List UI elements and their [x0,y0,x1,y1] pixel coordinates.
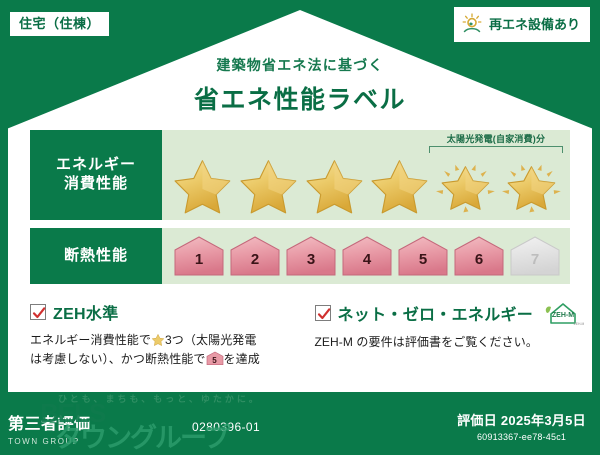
notes-section: ZEH水準 エネルギー消費性能で3つ（太陽光発電 は考慮しない）、かつ断熱性能で… [30,300,575,368]
energy-performance-row: エネルギー 消費性能 太陽光発電(自家消費)分 [30,130,570,220]
insulation-label-text: 断熱性能 [64,247,128,266]
insulation-grade-7-value: 7 [508,251,562,268]
star-5-solar [433,154,498,216]
zeh-note-body: エネルギー消費性能で3つ（太陽光発電 は考慮しない）、かつ断熱性能で5を達成 [30,331,303,368]
renewable-energy-badge: 再エネ設備あり [454,7,590,42]
label-title: 省エネ性能ラベル [0,80,600,116]
label-title-block: 建築物省エネ法に基づく 省エネ性能ラベル [0,55,600,116]
zeh-note-header: ZEH水準 [30,300,303,324]
insulation-grade-6-value: 6 [452,251,506,268]
insulation-grade-1: 1 [172,234,226,278]
star-1 [170,154,235,216]
sun-leaf-icon [460,12,484,36]
zeh-body-star-count: 3つ（太陽光発電 [165,333,256,347]
zeh-body-part3: を達成 [224,352,260,366]
nzeb-checkbox[interactable] [315,305,331,321]
zeh-m-logo-icon: ZEH-M ZEH-M [542,300,584,326]
evaluation-date: 評価日 2025年3月5日 [457,410,586,429]
star-6-solar [499,154,564,216]
energy-label-line1: エネルギー [56,156,136,175]
zeh-body-part2: は考慮しない）、かつ断熱性能で [30,352,206,366]
renewable-badge-label: 再エネ設備あり [489,18,580,31]
evaluation-id: 60913367-ee78-45c1 [457,432,586,442]
inline-star-icon [151,333,165,347]
star-3 [302,154,367,216]
energy-performance-value: 太陽光発電(自家消費)分 [162,130,570,220]
zeh-note-title: ZEH水準 [53,300,119,324]
insulation-performance-value: 1 2 3 4 5 [162,228,570,284]
insulation-grade-5-value: 5 [396,251,450,268]
solar-bracket [429,146,563,153]
energy-star-rating [170,152,564,216]
watermark-tagline: ひとも、まちも、もっと、ゆたかに。 [58,392,261,405]
category-tag: 住宅（住棟） [10,12,109,36]
nzeb-note: ネット・ゼロ・エネルギー ZEH-M ZEH-M ZEH-M の要件は評価書をご… [303,300,576,368]
zeh-checkbox[interactable] [30,304,46,320]
star-4 [367,154,432,216]
nzeb-note-header: ネット・ゼロ・エネルギー ZEH-M ZEH-M [315,300,576,326]
insulation-grade-7: 7 [508,234,562,278]
zeh-note: ZEH水準 エネルギー消費性能で3つ（太陽光発電 は考慮しない）、かつ断熱性能で… [30,300,303,368]
insulation-performance-label: 断熱性能 [30,228,162,284]
nzeb-note-title: ネット・ゼロ・エネルギー [338,301,534,325]
zeh-body-part1: エネルギー消費性能で [30,333,151,347]
inline-grade-badge-value: 5 [206,355,224,367]
evaluation-footer: 評価日 2025年3月5日 60913367-ee78-45c1 [457,410,586,442]
third-party-logo-mark: 第三者評価 [8,417,140,433]
insulation-grade-1-value: 1 [172,251,226,268]
solar-contribution-annotation: 太陽光発電(自家消費)分 [429,132,563,153]
insulation-grade-4-value: 4 [340,251,394,268]
insulation-grade-2: 2 [228,234,282,278]
insulation-performance-row: 断熱性能 1 2 3 4 [30,228,570,284]
solar-annotation-label: 太陽光発電(自家消費)分 [429,132,563,145]
label-subtitle: 建築物省エネ法に基づく [0,55,600,75]
insulation-grade-scale: 1 2 3 4 5 [172,228,562,284]
insulation-grade-3-value: 3 [284,251,338,268]
svg-text:ZEH-M: ZEH-M [552,312,574,319]
nzeb-note-body: ZEH-M の要件は評価書をご覧ください。 [315,333,576,352]
insulation-grade-3: 3 [284,234,338,278]
certificate-number: 0280396-01 [192,420,260,434]
energy-label-line2: 消費性能 [64,175,128,194]
insulation-grade-2-value: 2 [228,251,282,268]
inline-grade-badge-icon: 5 [206,351,224,366]
insulation-grade-5: 5 [396,234,450,278]
star-2 [236,154,301,216]
energy-performance-label: エネルギー 消費性能 [30,130,162,220]
third-party-logo-sub: TOWN GROUP [8,437,140,446]
insulation-grade-6: 6 [452,234,506,278]
svg-text:ZEH-M: ZEH-M [574,322,584,326]
insulation-grade-4: 4 [340,234,394,278]
energy-label-card: 住宅（住棟） 再エネ設備あり 建築物省エネ法に基づく 省エネ性能ラベル [0,0,600,450]
third-party-logo: 第三者評価 TOWN GROUP [8,417,140,446]
